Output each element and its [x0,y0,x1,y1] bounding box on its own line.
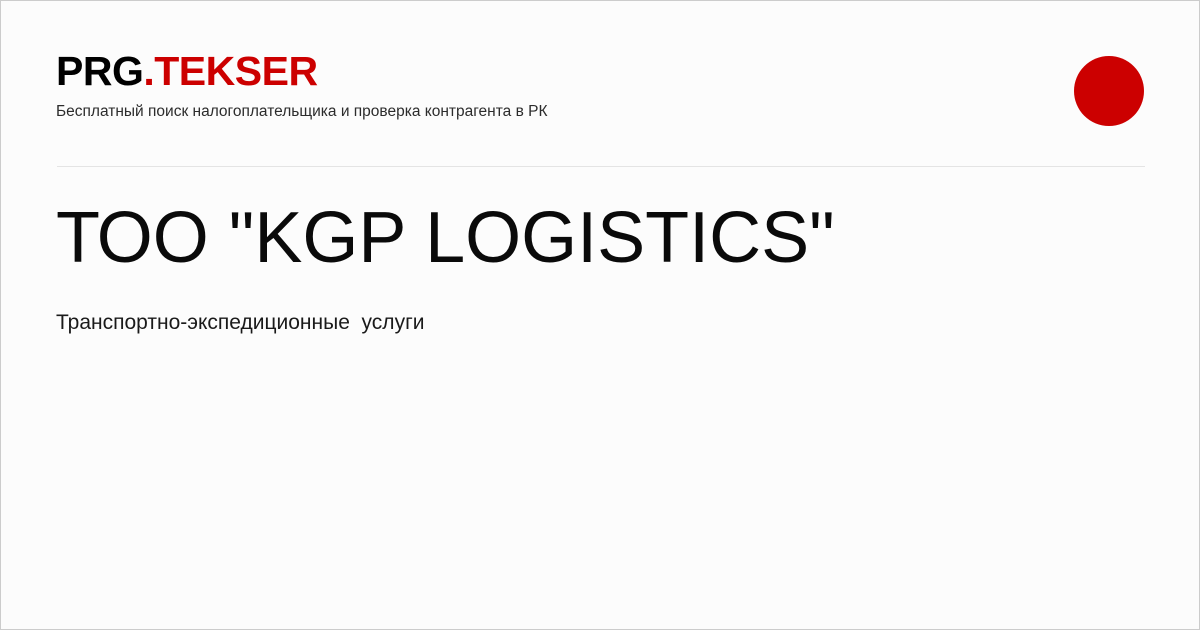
header-divider [57,166,1145,167]
logo-text-accent: TEKSER [154,48,317,94]
og-preview-card: PRG.TEKSER Бесплатный поиск налогоплател… [0,0,1200,630]
company-title: ТОО "KGP LOGISTICS" [56,201,1144,277]
logo-text-separator: . [143,48,154,94]
main-content: ТОО "KGP LOGISTICS" Транспортно-экспедиц… [56,201,1144,336]
red-circle-icon [1074,56,1144,126]
logo-text-primary: PRG [56,48,143,94]
company-activity: Транспортно-экспедиционные услуги [56,309,1144,336]
brand-block[interactable]: PRG.TEKSER Бесплатный поиск налогоплател… [56,51,548,121]
site-tagline: Бесплатный поиск налогоплательщика и про… [56,102,548,121]
site-header: PRG.TEKSER Бесплатный поиск налогоплател… [56,51,1144,131]
site-logo[interactable]: PRG.TEKSER [56,51,548,92]
